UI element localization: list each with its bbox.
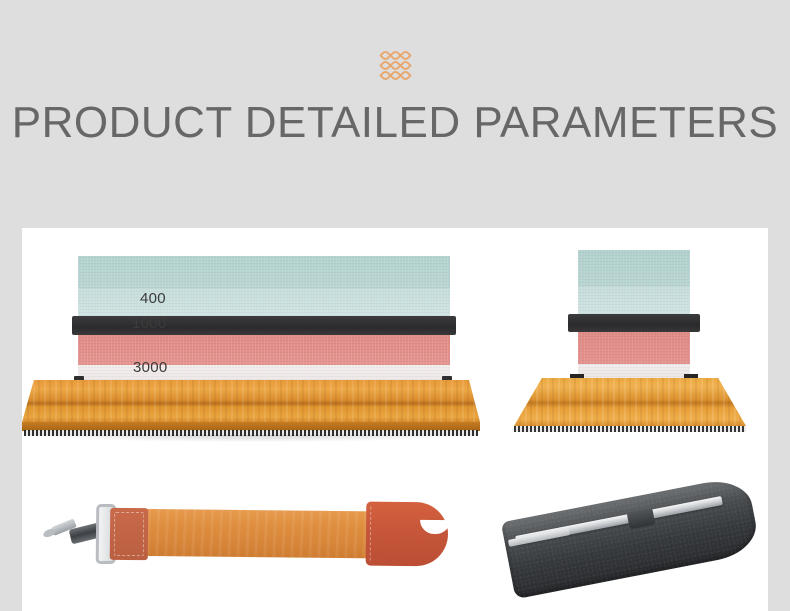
photo-leather-strop	[22, 476, 482, 611]
whetstone-layer-3000-end	[578, 332, 690, 364]
ornament-cell	[399, 69, 412, 82]
ornament-cell	[399, 59, 412, 72]
whetstone-stack-front: 400 1000 3000 8000	[78, 256, 450, 386]
grit-label-400: 400	[140, 290, 166, 307]
photo-angle-guide	[492, 476, 768, 611]
grit-label-1000: 1000	[132, 315, 167, 332]
base-shadow	[32, 435, 472, 442]
product-photo-panel: 400 1000 3000 8000	[22, 228, 768, 611]
bamboo-base-front	[22, 380, 480, 442]
whetstone-center-band-end	[568, 314, 700, 332]
whetstone-layer-1000-end	[578, 286, 690, 314]
whetstone-center-band	[72, 316, 456, 335]
whetstone-stack-end	[578, 250, 690, 386]
photo-whetstone-end-view	[492, 228, 768, 468]
page-title: PRODUCT DETAILED PARAMETERS	[0, 98, 790, 148]
whetstone-layer-400	[78, 256, 450, 288]
bamboo-base-end	[514, 378, 746, 446]
strop-leather-belt	[112, 509, 374, 559]
whetstone-layer-1000	[78, 288, 450, 316]
bamboo-surface	[22, 380, 480, 422]
photo-whetstone-front-view: 400 1000 3000 8000	[22, 228, 482, 468]
bamboo-surface-end	[514, 378, 746, 426]
ornament-cell	[399, 49, 412, 62]
ornament-grid	[381, 51, 410, 80]
diamond-lattice-ornament	[0, 50, 790, 80]
silicone-foot-strip-end	[514, 426, 746, 432]
page-header: PRODUCT DETAILED PARAMETERS	[0, 0, 790, 228]
whetstone-layer-400-end	[578, 250, 690, 286]
grit-label-3000: 3000	[133, 359, 168, 376]
strop-stitched-patch	[110, 508, 149, 560]
